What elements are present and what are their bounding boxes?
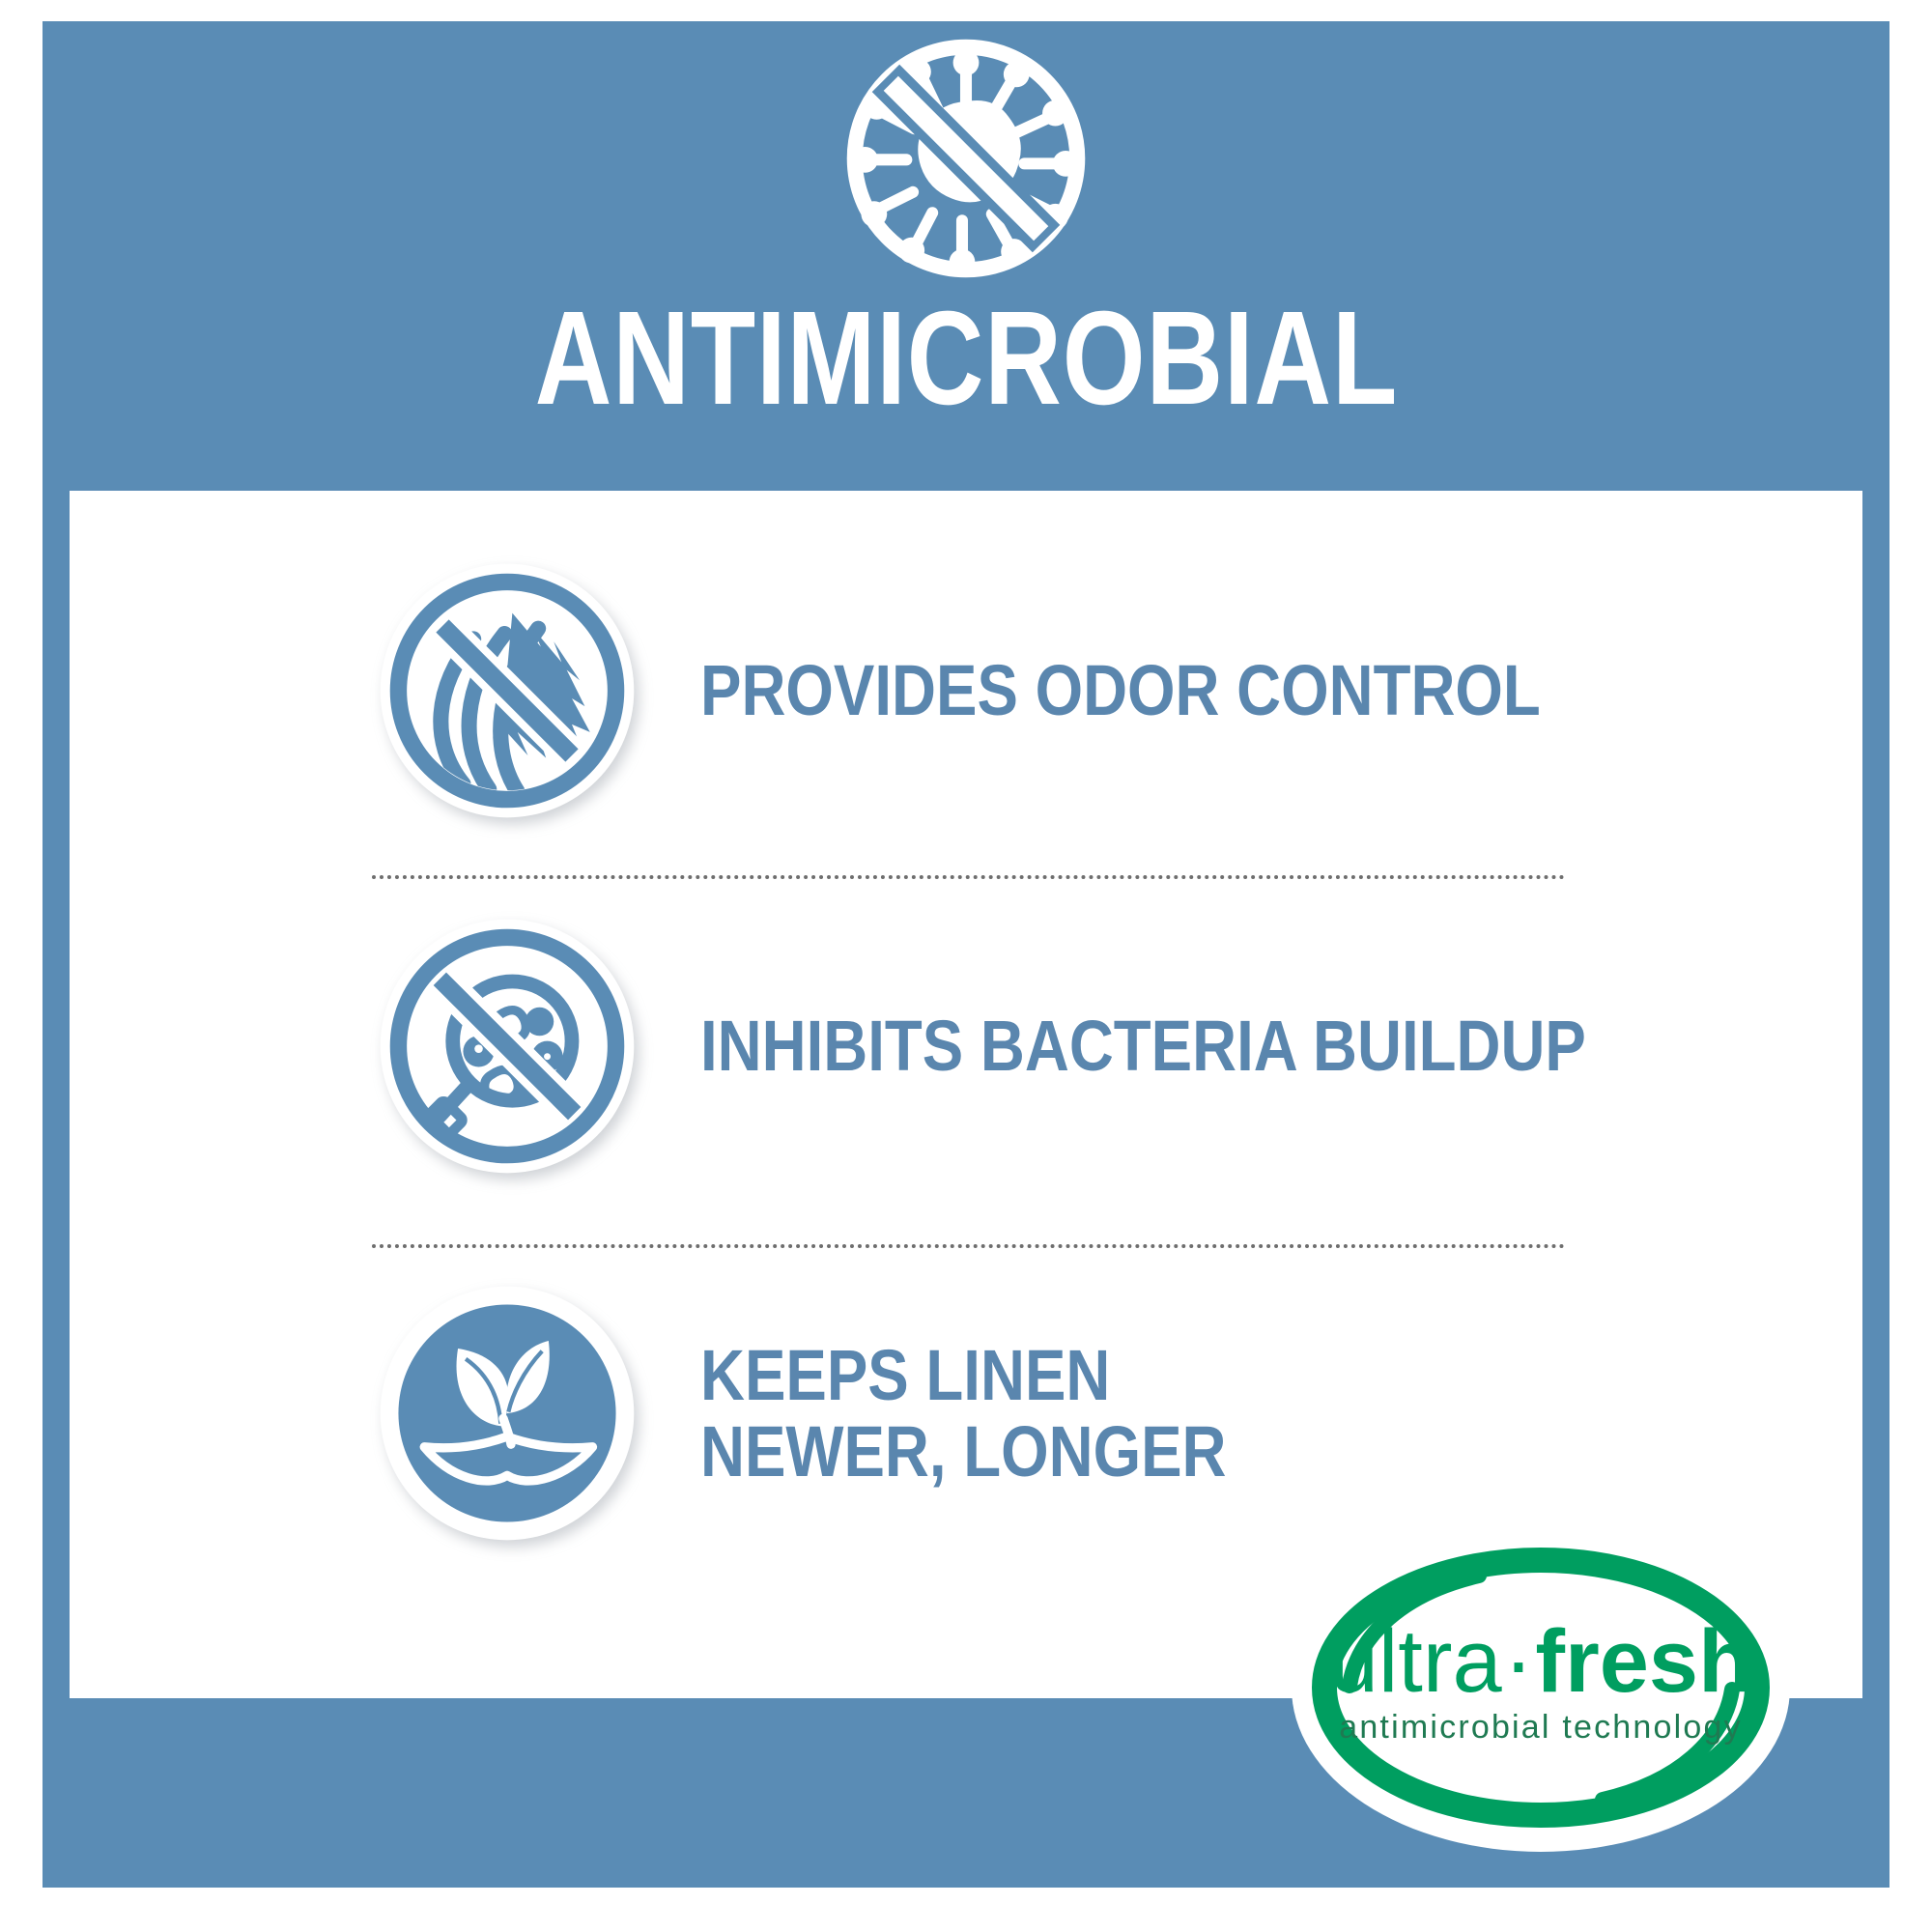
- feature-label: INHIBITS BACTERIA BUILDUP: [700, 1008, 1586, 1084]
- feature-label: KEEPS LINEN NEWER, LONGER: [700, 1337, 1226, 1490]
- ultra-fresh-logo: ultra·fresh antimicrobial technology: [1290, 1521, 1792, 1855]
- poster-header: ANTIMICROBIAL: [43, 21, 1889, 491]
- no-bacteria-icon: [378, 917, 637, 1176]
- feature-row: INHIBITS BACTERIA BUILDUP: [70, 916, 1862, 1177]
- logo-tagline: antimicrobial technology: [1339, 1709, 1743, 1746]
- no-germ-icon: [837, 29, 1095, 288]
- feature-list: PROVIDES ODOR CONTROL: [70, 491, 1862, 1698]
- logo-wordmark-ultra: ultra: [1329, 1612, 1503, 1711]
- feature-icon-wrap: [372, 1284, 642, 1543]
- antimicrobial-poster: ANTIMICROBIAL: [0, 0, 1932, 1932]
- logo-wordmark-separator: ·: [1504, 1612, 1534, 1711]
- feature-label: PROVIDES ODOR CONTROL: [700, 652, 1541, 728]
- feature-icon-wrap: [372, 917, 642, 1176]
- page-title: ANTIMICROBIAL: [534, 292, 1398, 425]
- row-divider: [372, 1244, 1565, 1248]
- logo-wordmark: ultra·fresh: [1329, 1612, 1753, 1711]
- no-odor-icon: [378, 561, 637, 820]
- feature-row: KEEPS LINEN NEWER, LONGER: [70, 1283, 1862, 1544]
- logo-wordmark-fresh: fresh: [1535, 1612, 1752, 1711]
- ultra-fresh-logo-graphic: ultra·fresh antimicrobial technology: [1290, 1521, 1792, 1855]
- feature-icon-wrap: [372, 561, 642, 820]
- row-divider: [372, 875, 1565, 879]
- leaf-sprout-icon: [378, 1284, 637, 1543]
- feature-row: PROVIDES ODOR CONTROL: [70, 560, 1862, 821]
